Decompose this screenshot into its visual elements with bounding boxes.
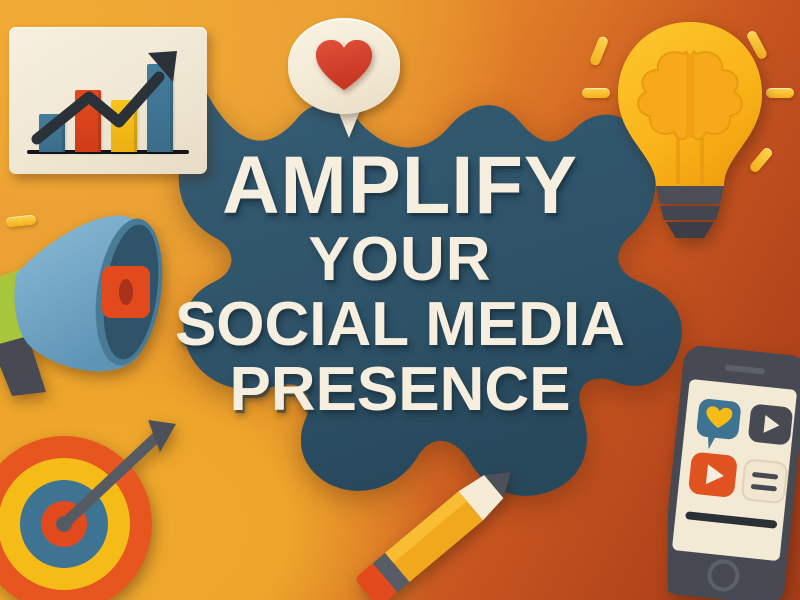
spark-dash-icon bbox=[582, 88, 610, 98]
headline-line-2: YOUR bbox=[0, 231, 800, 288]
list-lines-tile bbox=[742, 459, 788, 503]
poster-canvas: AMPLIFY YOUR SOCIAL MEDIA PRESENCE bbox=[0, 0, 800, 600]
headline-line-3: SOCIAL MEDIA bbox=[0, 296, 800, 353]
target-svg bbox=[0, 418, 184, 600]
headline-line-1: AMPLIFY bbox=[12, 148, 788, 223]
pencil-icon bbox=[338, 452, 538, 600]
page-title: AMPLIFY YOUR SOCIAL MEDIA PRESENCE bbox=[0, 148, 800, 418]
spark-dash-icon bbox=[766, 88, 794, 98]
heart-icon bbox=[314, 38, 374, 92]
pencil-svg bbox=[338, 452, 538, 600]
heart-speech-bubble bbox=[288, 18, 400, 114]
spark-dash-icon bbox=[589, 35, 610, 67]
target-with-arrow-icon bbox=[0, 418, 184, 600]
headline-line-4: PRESENCE bbox=[0, 361, 800, 418]
video-play-tile-red bbox=[688, 452, 738, 499]
